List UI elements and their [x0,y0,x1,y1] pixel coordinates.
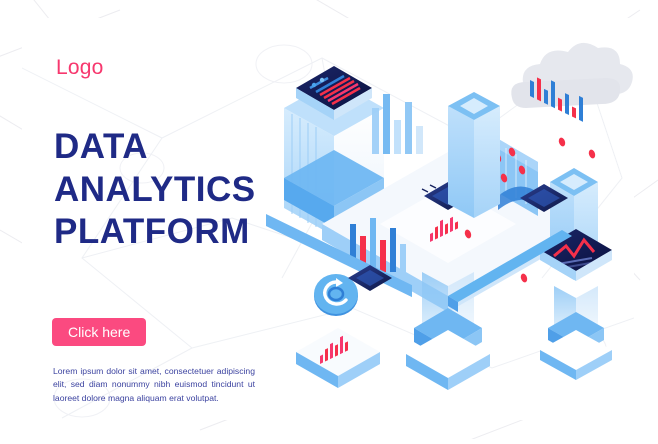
sync-icon [314,274,358,316]
cloud-icon [511,43,633,108]
headline-line-3: PLATFORM [54,211,304,254]
click-here-button[interactable]: Click here [52,318,146,346]
hero-panel: Logo DATA ANALYTICS PLATFORM Click here … [22,18,634,420]
right-tower [448,92,500,218]
headline-line-1: DATA [54,126,304,169]
right-pedestal [540,286,612,380]
logo-text[interactable]: Logo [56,56,104,80]
mini-chart-tile [296,328,380,388]
page-title: DATA ANALYTICS PLATFORM [54,126,304,254]
body-paragraph: Lorem ipsum dolor sit amet, consectetuer… [53,365,255,406]
headline-line-2: ANALYTICS [54,169,304,212]
isometric-illustration [262,28,634,408]
